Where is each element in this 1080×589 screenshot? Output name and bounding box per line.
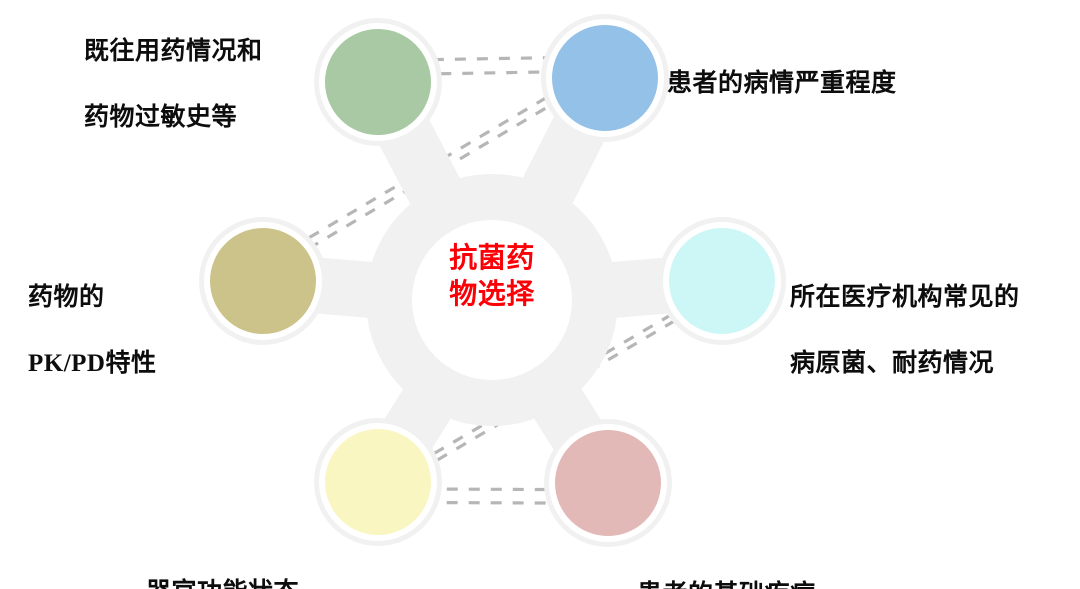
node-label-line: 所在医疗机构常见的 — [790, 281, 1020, 314]
node-label-severity: 患者的病情严重程度 — [667, 34, 897, 133]
node-circle-comorbid[interactable] — [555, 430, 661, 536]
node-label-pkpd: 药物的 PK/PD特性 — [28, 248, 157, 413]
center-title-line: 抗菌药 — [414, 240, 570, 276]
node-label-line: 患者的病情严重程度 — [667, 67, 897, 100]
node-circle-pkpd[interactable] — [210, 228, 316, 334]
node-label-line: 患者的基础疾病 — [637, 578, 816, 589]
node-circle-organ[interactable] — [325, 429, 431, 535]
node-label-prior-meds: 既往用药情况和 药物过敏史等 — [84, 2, 263, 167]
node-label-line: 病原菌、耐药情况 — [790, 347, 1020, 380]
node-label-comorbid: 患者的基础疾病 — [637, 545, 816, 589]
diagram-canvas: 既往用药情况和 药物过敏史等 患者的病情严重程度 药物的 PK/PD特性 所在医… — [0, 0, 1080, 589]
node-label-pathogens: 所在医疗机构常见的 病原菌、耐药情况 — [790, 248, 1020, 413]
node-label-line: 器官功能状态 — [146, 576, 299, 589]
node-label-line: 既往用药情况和 — [84, 35, 263, 68]
node-circle-prior-meds[interactable] — [325, 29, 431, 135]
node-label-organ: 器官功能状态 — [146, 543, 299, 589]
node-label-line: PK/PD特性 — [28, 347, 157, 380]
node-circle-pathogens[interactable] — [669, 228, 775, 334]
node-circle-severity[interactable] — [552, 25, 658, 131]
node-label-line: 药物过敏史等 — [84, 101, 263, 134]
center-title-line: 物选择 — [414, 276, 570, 312]
node-label-line: 药物的 — [28, 281, 157, 314]
center-title: 抗菌药 物选择 — [414, 240, 570, 312]
